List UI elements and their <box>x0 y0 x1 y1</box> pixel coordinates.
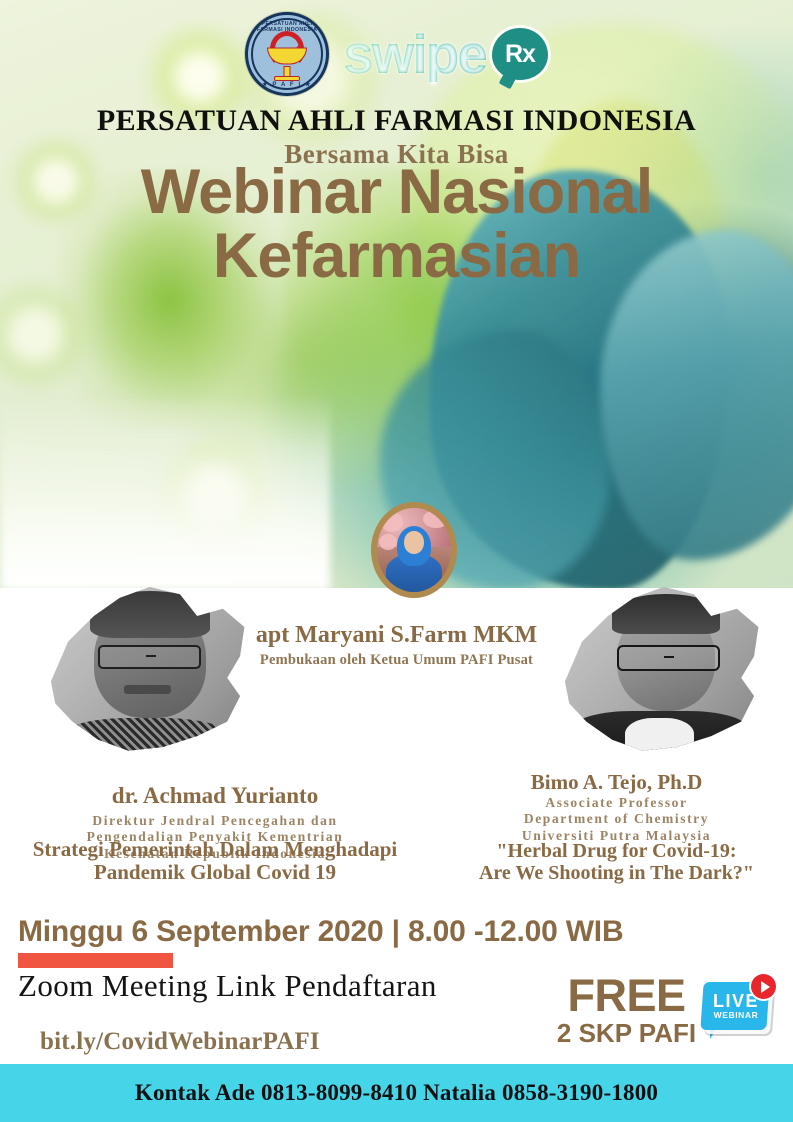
contact-footer: Kontak Ade 0813-8099-8410 Natalia 0858-3… <box>0 1064 793 1122</box>
portrait-mouth <box>124 685 171 694</box>
center-speaker-avatar <box>371 502 457 598</box>
organization-title: PERSATUAN AHLI FARMASI INDONESIA <box>0 104 793 138</box>
eyeglasses-icon <box>98 645 201 669</box>
center-speaker-subtitle: Pembukaan oleh Ketua Umum PAFI Pusat <box>193 652 600 669</box>
pafi-logo-icon: PERSATUAN AHLI FARMASI INDONESIA ★ P A F… <box>245 12 329 96</box>
brush-mask <box>38 576 253 758</box>
contact-text: Kontak Ade 0813-8099-8410 Natalia 0858-3… <box>135 1080 658 1106</box>
right-speaker-topic: "Herbal Drug for Covid-19: Are We Shooti… <box>440 840 793 884</box>
portrait-hair <box>612 594 720 634</box>
logo-row: PERSATUAN AHLI FARMASI INDONESIA ★ P A F… <box>0 8 793 100</box>
left-speaker-topic: Strategi Pemerintah Dalam Menghadapi Pan… <box>0 838 430 884</box>
swiperx-logo: swipe Rx <box>343 27 548 82</box>
right-speaker-role: Associate Professor Department of Chemis… <box>440 795 793 844</box>
blossom-decor <box>423 510 449 528</box>
credits-label: 2 SKP PAFI <box>549 1018 704 1049</box>
blossom-decor <box>381 512 403 532</box>
eyeglasses-icon <box>617 645 720 670</box>
right-speaker-name: Bimo A. Tejo, Ph.D <box>440 770 793 795</box>
rx-label: Rx <box>505 40 535 69</box>
portrait-hair <box>90 591 210 638</box>
dress-shirt <box>625 718 694 758</box>
registration-link[interactable]: bit.ly/CovidWebinarPAFI <box>40 1028 320 1056</box>
brush-mask <box>552 576 767 758</box>
swipe-wordmark: swipe <box>343 27 486 82</box>
live-webinar-badge: LIVE WEBINAR <box>700 974 776 1044</box>
play-button-icon <box>751 974 776 999</box>
page-title: Webinar Nasional Kefarmasian <box>0 162 793 287</box>
right-speaker-photo <box>552 576 767 758</box>
hero-fade-overlay <box>0 395 330 588</box>
left-speaker-photo <box>38 576 253 758</box>
event-dateline: Minggu 6 September 2020 | 8.00 -12.00 WI… <box>18 915 778 949</box>
price-badge: FREE <box>549 970 704 1022</box>
blossom-decor <box>379 534 397 550</box>
center-speaker-name: apt Maryani S.Farm MKM <box>193 622 600 649</box>
batik-shirt <box>64 718 227 758</box>
webinar-poster: PERSATUAN AHLI FARMASI INDONESIA ★ P A F… <box>0 0 793 1122</box>
main-title-line-1: Webinar Nasional <box>141 157 652 227</box>
main-title-line-2: Kefarmasian <box>0 226 793 288</box>
pafi-ring-bottom-text: ★ P A F I ★ <box>248 81 326 88</box>
registration-label: Zoom Meeting Link Pendaftaran <box>18 968 437 1004</box>
rx-speech-bubble-icon: Rx <box>492 28 548 80</box>
avatar-face <box>404 531 424 554</box>
red-accent-bar <box>18 953 173 968</box>
left-speaker-name: dr. Achmad Yurianto <box>0 783 430 809</box>
webinar-label: WEBINAR <box>708 1010 764 1020</box>
